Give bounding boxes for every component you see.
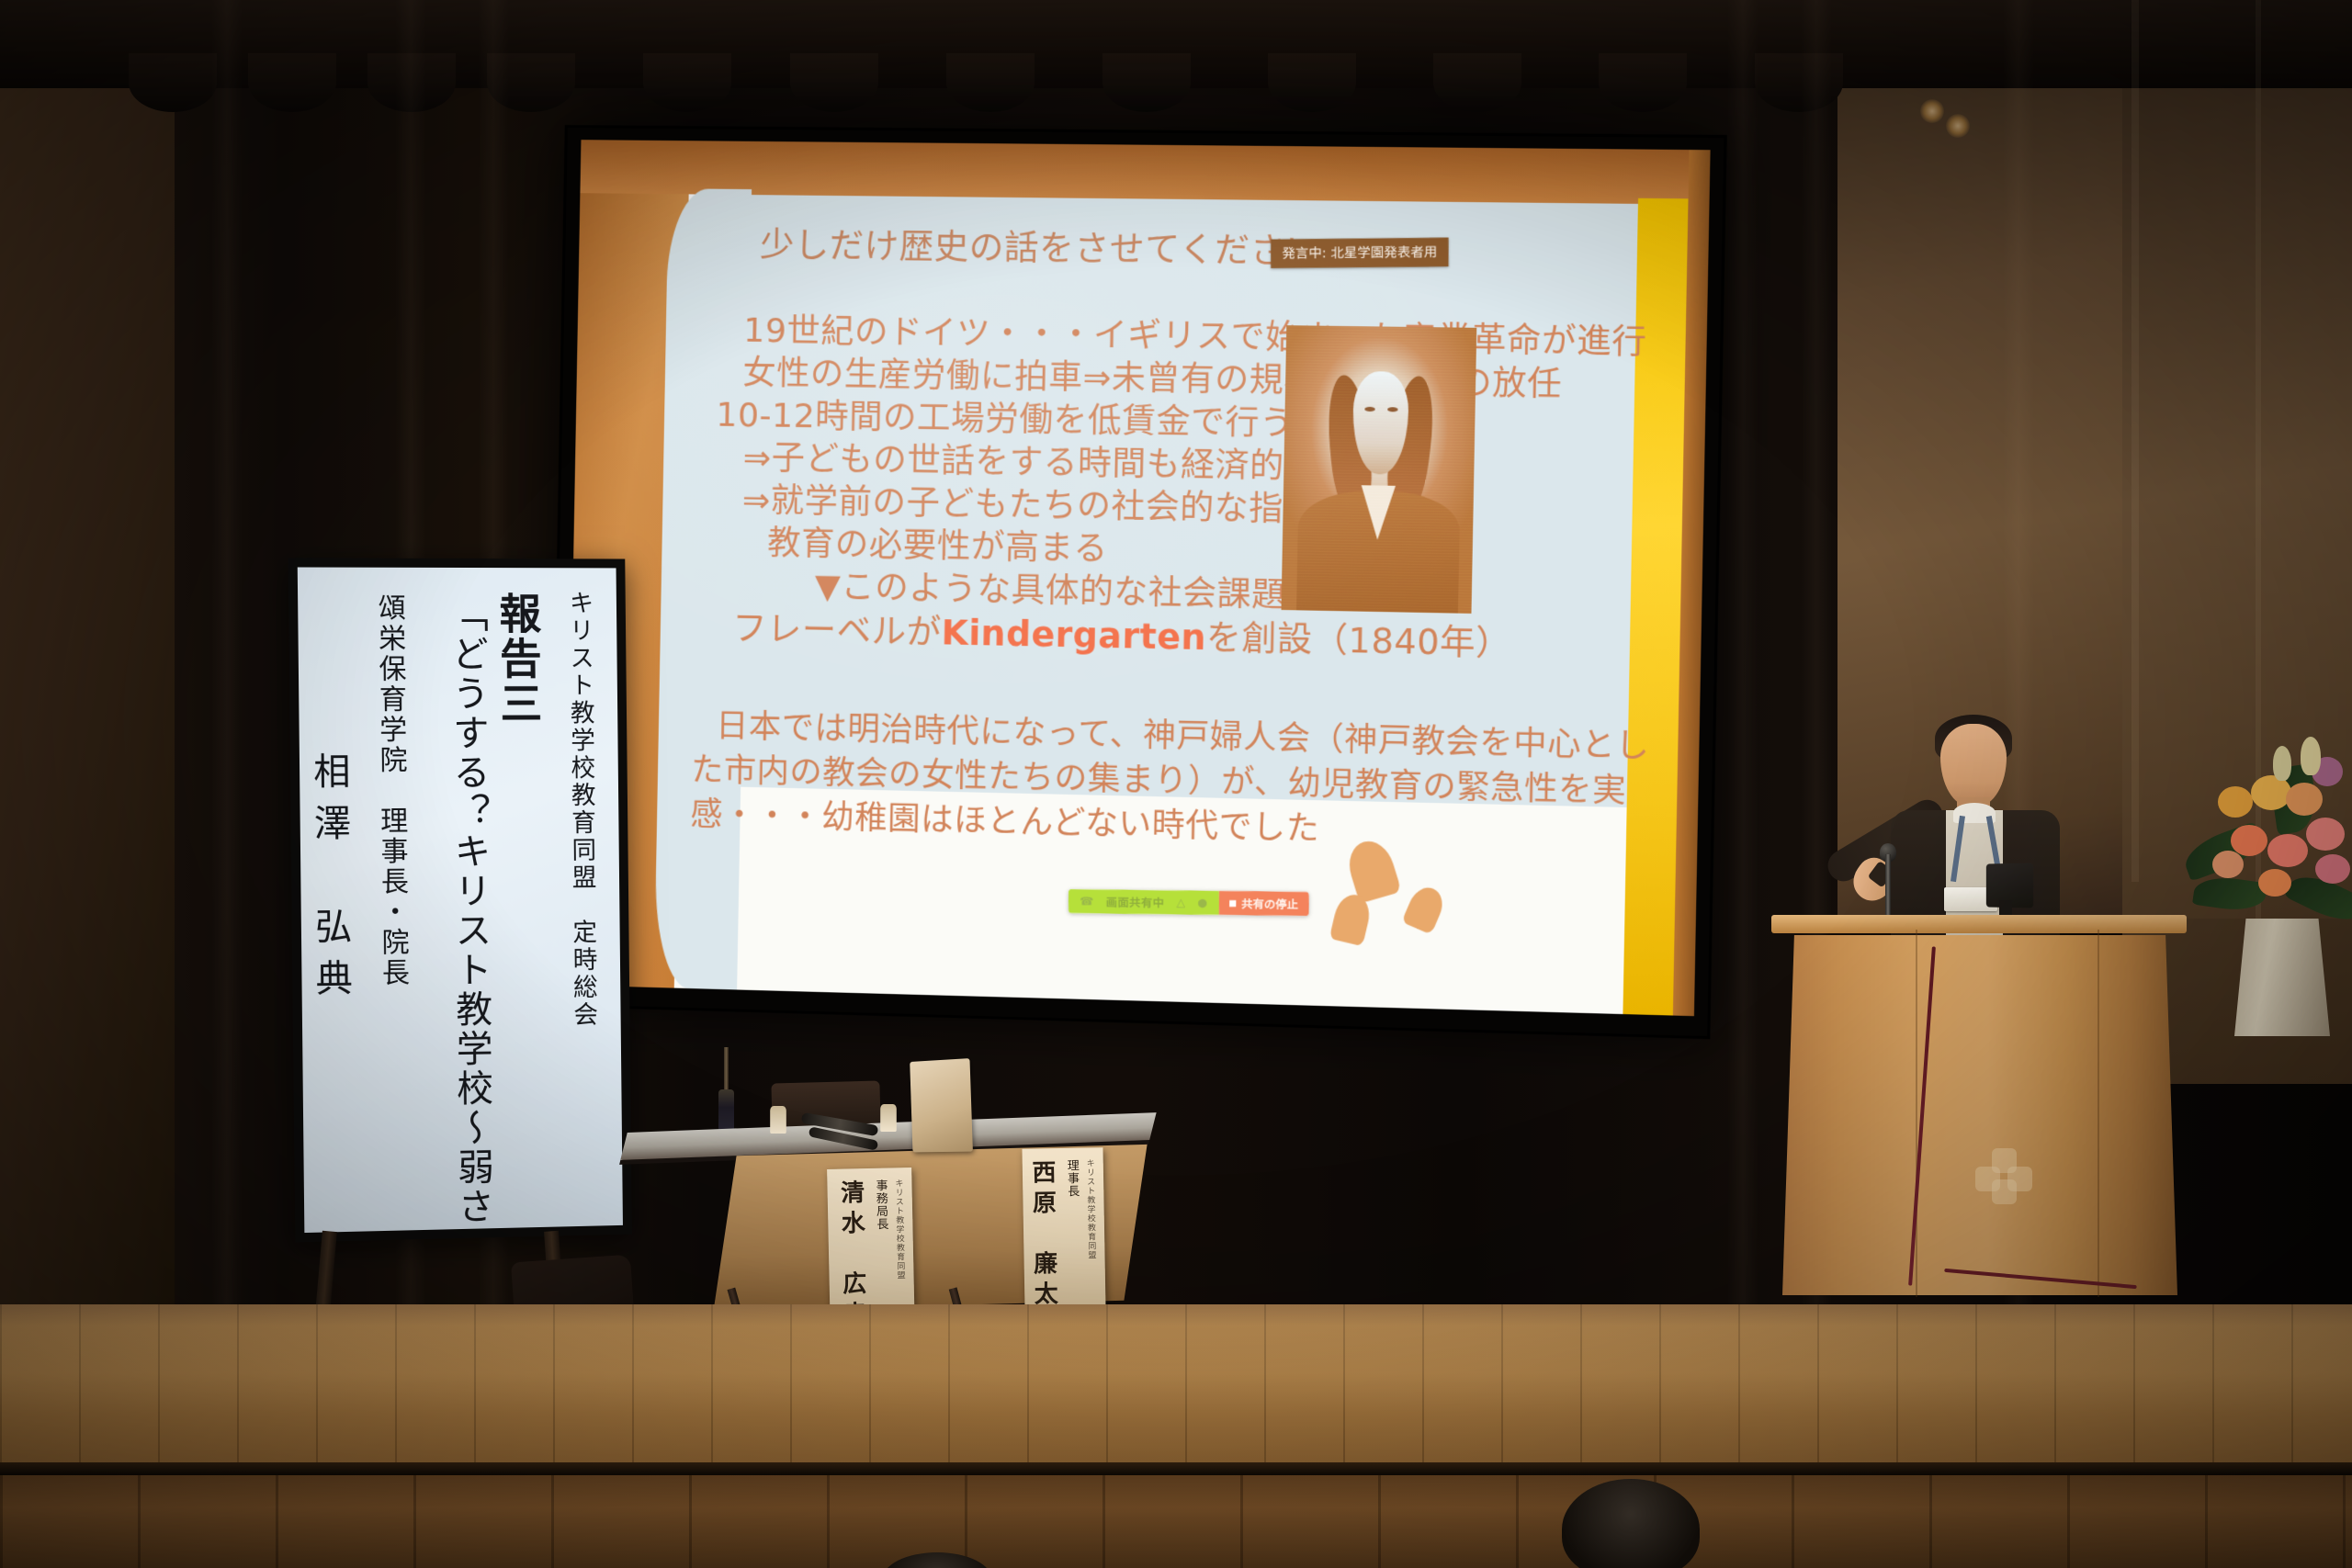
flower-bloom bbox=[2286, 783, 2323, 816]
screen-share-status-group: ☎ 画面共有中 △ ● bbox=[1069, 889, 1219, 915]
wall-panel-left bbox=[0, 0, 175, 1359]
podium-facet-edge bbox=[2098, 930, 2099, 1297]
valance-scallop bbox=[1268, 53, 1356, 112]
slide-template-wave-edge bbox=[654, 188, 752, 989]
signboard-affiliation: 頌栄保育学院 理事長・院長 bbox=[368, 593, 413, 989]
signboard-report-title: 報告三 bbox=[487, 592, 548, 727]
floral-arrangement bbox=[2177, 726, 2352, 1038]
emblem-petal bbox=[1992, 1179, 2017, 1204]
flower-bloom bbox=[2212, 851, 2244, 878]
annotate-icon[interactable]: △ bbox=[1177, 896, 1186, 908]
flower-bloom bbox=[2267, 834, 2308, 867]
cherry-blossom-emblem bbox=[1975, 1148, 2032, 1205]
flower-vase bbox=[2234, 919, 2330, 1036]
flower-bloom bbox=[2315, 854, 2350, 884]
valance-scallop bbox=[1433, 53, 1521, 112]
valance-scallop bbox=[248, 53, 336, 112]
valance-scallop bbox=[1599, 53, 1687, 112]
placard-name: 清水 広幸 bbox=[833, 1179, 870, 1325]
flower-bloom bbox=[2258, 869, 2291, 897]
screen-share-status-label: 画面共有中 bbox=[1106, 894, 1165, 910]
speaking-now-badge: 発言中: 北星学園発表者用 bbox=[1271, 238, 1449, 268]
valance-scallop bbox=[129, 53, 217, 112]
flower-bud bbox=[2273, 746, 2291, 781]
podium-facet-edge bbox=[1916, 930, 1917, 1297]
pause-icon[interactable]: ● bbox=[1197, 897, 1207, 909]
signboard-speaker-name: 相澤 弘典 bbox=[301, 752, 357, 1011]
flower-bloom bbox=[2218, 786, 2253, 818]
kindergarten-highlight: Kindergarten bbox=[941, 613, 1206, 658]
slide-heading: 少しだけ歴史の話をさせてください。 bbox=[760, 217, 1357, 274]
foliage-leaf bbox=[2192, 874, 2267, 915]
ceiling-light bbox=[1920, 99, 1944, 123]
signboard-face: キリスト教学校教育同盟 定時総会 報告三 「どうする？キリスト教学校～弱さの情報… bbox=[298, 568, 623, 1234]
screen-share-toolbar[interactable]: ☎ 画面共有中 △ ● 共有の停止 bbox=[1069, 889, 1309, 916]
stop-sharing-button[interactable]: 共有の停止 bbox=[1218, 891, 1308, 917]
stage-front-panel bbox=[0, 1475, 2352, 1568]
name-placard-text-group: キリスト教学校教育同盟 理事長 西原 廉太 bbox=[1022, 1147, 1105, 1311]
placard-name: 西原 廉太 bbox=[1025, 1159, 1062, 1300]
flower-bloom bbox=[2231, 825, 2267, 856]
laptop bbox=[910, 1058, 973, 1152]
valance-scallop bbox=[946, 53, 1035, 112]
flower-bud bbox=[2301, 737, 2321, 775]
froebel-portrait-image bbox=[1282, 325, 1477, 614]
stage-front-panel-lines bbox=[0, 1475, 2352, 1568]
curtain-fold bbox=[211, 0, 243, 1314]
flower-bloom bbox=[2306, 818, 2345, 851]
standing-signboard: キリスト教学校教育同盟 定時総会 報告三 「どうする？キリスト教学校～弱さの情報… bbox=[288, 558, 632, 1242]
portrait-grain-texture bbox=[1282, 325, 1477, 614]
stop-sharing-label: 共有の停止 bbox=[1241, 896, 1298, 912]
placard-organization: キリスト教学校教育同盟 bbox=[892, 1179, 907, 1324]
phone-icon[interactable]: ☎ bbox=[1080, 895, 1093, 908]
valance-scallop bbox=[643, 53, 731, 112]
presentation-slide: 少しだけ歴史の話をさせてください。 19世紀のドイツ・・・イギリスで始まった産業… bbox=[566, 140, 1711, 1016]
presenter-head bbox=[1940, 724, 2007, 807]
signboard-organization: キリスト教学校教育同盟 定時総会 bbox=[561, 590, 601, 1029]
paper-cup bbox=[770, 1106, 786, 1134]
stage-scene: 少しだけ歴史の話をさせてください。 19世紀のドイツ・・・イギリスで始まった産業… bbox=[0, 0, 2352, 1568]
valance-scallop bbox=[790, 53, 878, 112]
name-placard: キリスト教学校教育同盟 理事長 西原 廉太 bbox=[1022, 1147, 1105, 1311]
projection-screen: 少しだけ歴史の話をさせてください。 19世紀のドイツ・・・イギリスで始まった産業… bbox=[548, 125, 1727, 1039]
placard-organization: キリスト教学校教育同盟 bbox=[1084, 1158, 1099, 1298]
stop-square-icon bbox=[1229, 899, 1236, 906]
ceiling-light bbox=[1946, 114, 1970, 138]
curtain-fold bbox=[1727, 0, 1758, 1314]
placard-role: 理事長 bbox=[1063, 1159, 1083, 1299]
valance-scallop bbox=[1102, 53, 1191, 112]
placard-role: 事務局長 bbox=[871, 1179, 891, 1325]
podium bbox=[1782, 928, 2177, 1295]
kindergarten-after: を創設（1840年） bbox=[1206, 618, 1512, 664]
kindergarten-before: フレーベルが bbox=[732, 609, 942, 653]
podium-top-surface bbox=[1771, 915, 2187, 933]
stage-edge-lip bbox=[0, 1462, 2352, 1475]
paper-cup bbox=[880, 1104, 897, 1132]
